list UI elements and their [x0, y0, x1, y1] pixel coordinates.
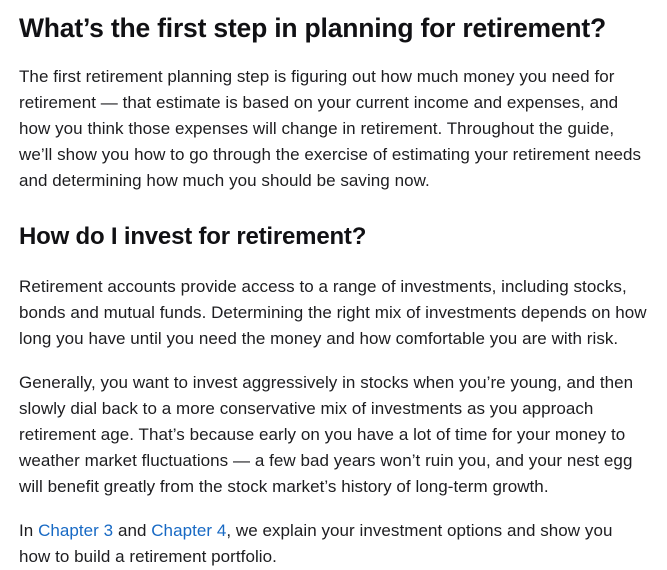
link-chapter-3[interactable]: Chapter 3 [38, 521, 113, 540]
paragraph-invest-aggressively: Generally, you want to invest aggressive… [19, 370, 648, 500]
paragraph-middle-text: and [113, 521, 151, 540]
spacer [19, 500, 648, 518]
link-chapter-4[interactable]: Chapter 4 [151, 521, 226, 540]
article-content: What’s the first step in planning for re… [0, 0, 667, 570]
paragraph-first-step: The first retirement planning step is fi… [19, 64, 648, 194]
paragraph-retirement-accounts: Retirement accounts provide access to a … [19, 274, 648, 352]
spacer [19, 44, 648, 64]
spacer [19, 252, 648, 274]
paragraph-prefix-text: In [19, 521, 38, 540]
spacer [19, 352, 648, 370]
section-heading-invest: How do I invest for retirement? [19, 222, 648, 251]
page-title: What’s the first step in planning for re… [19, 0, 648, 44]
spacer [19, 194, 648, 222]
paragraph-chapter-links: In Chapter 3 and Chapter 4, we explain y… [19, 518, 648, 570]
